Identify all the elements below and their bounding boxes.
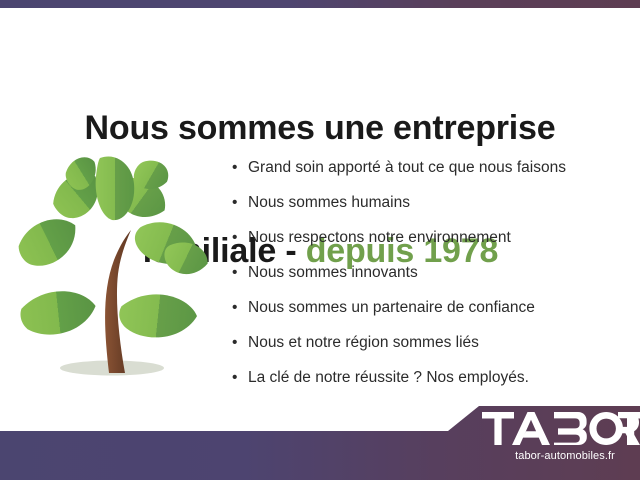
list-item-label: Nous sommes un partenaire de confiance [248,299,535,316]
bullet-icon: • [232,220,237,255]
tree-trunk [105,230,131,373]
tree-logo-icon [8,150,223,395]
list-item: • La clé de notre réussite ? Nos employé… [228,360,632,395]
tree-leaf [18,288,98,338]
bullet-icon: • [232,325,237,360]
list-item: • Nous respectons notre environnement [228,220,632,255]
list-item-label: Nous sommes innovants [248,264,418,281]
slide-canvas: Nous sommes une entreprise familiale - d… [0,0,640,480]
list-item: • Nous et notre région sommes liés [228,325,632,360]
list-item-label: Nous sommes humains [248,194,410,211]
list-item: • Nous sommes innovants [228,255,632,290]
bullet-icon: • [232,150,237,185]
list-item: • Nous sommes humains [228,185,632,220]
benefits-list: • Grand soin apporté à tout ce que nous … [228,150,632,395]
top-accent-stripe [0,0,640,8]
tree-leaf [96,156,135,220]
list-item-label: La clé de notre réussite ? Nos employés. [248,369,529,386]
tabor-wordmark-icon [482,412,640,446]
bullet-icon: • [232,185,237,220]
list-item-label: Grand soin apporté à tout ce que nous fa… [248,159,566,176]
list-item: • Grand soin apporté à tout ce que nous … [228,150,632,185]
brand-logo: tabor-automobiles.fr [482,412,640,472]
bullet-icon: • [232,255,237,290]
list-item-label: Nous et notre région sommes liés [248,334,479,351]
list-item-label: Nous respectons notre environnement [248,229,511,246]
bullet-icon: • [232,290,237,325]
bullet-icon: • [232,360,237,395]
tree-leaf [12,210,86,274]
tree-leaf [117,290,199,341]
tree-illustration [8,150,223,395]
brand-tagline: tabor-automobiles.fr [490,450,640,462]
list-item: • Nous sommes un partenaire de confiance [228,290,632,325]
headline-line-1: Nous sommes une entreprise [0,108,640,149]
